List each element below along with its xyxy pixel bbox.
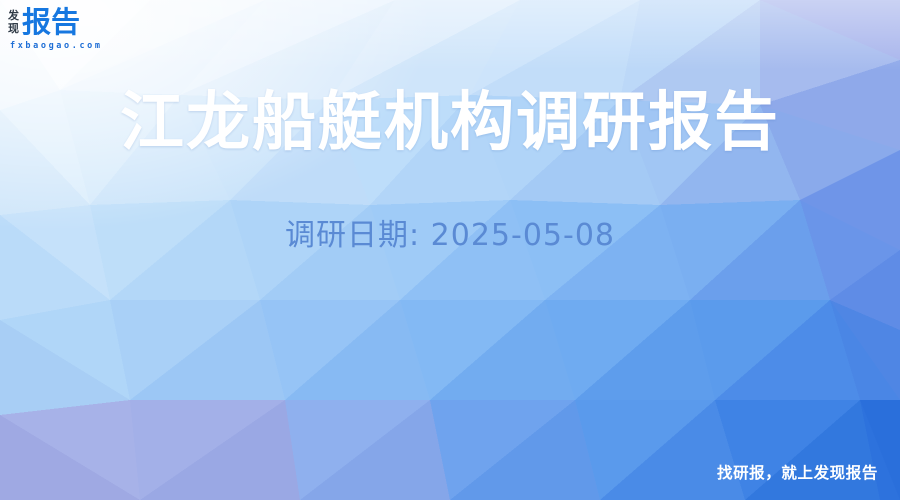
logo-char-xian: 现 xyxy=(8,23,19,36)
low-poly-background xyxy=(0,0,900,500)
logo-domain-text: fxbaogao.com xyxy=(10,41,248,51)
logo-wordmark-row: 发 现 报告 xyxy=(8,7,248,37)
report-cover: 发 现 报告 fxbaogao.com 江龙船艇机构调研报告 调研日期: 202… xyxy=(0,0,900,500)
logo-stacked-characters: 发 现 xyxy=(8,10,19,37)
footer-tagline: 找研报，就上发现报告 xyxy=(717,461,878,483)
logo-wordmark: 报告 xyxy=(22,8,80,37)
brand-logo[interactable]: 发 现 报告 fxbaogao.com xyxy=(8,7,248,51)
